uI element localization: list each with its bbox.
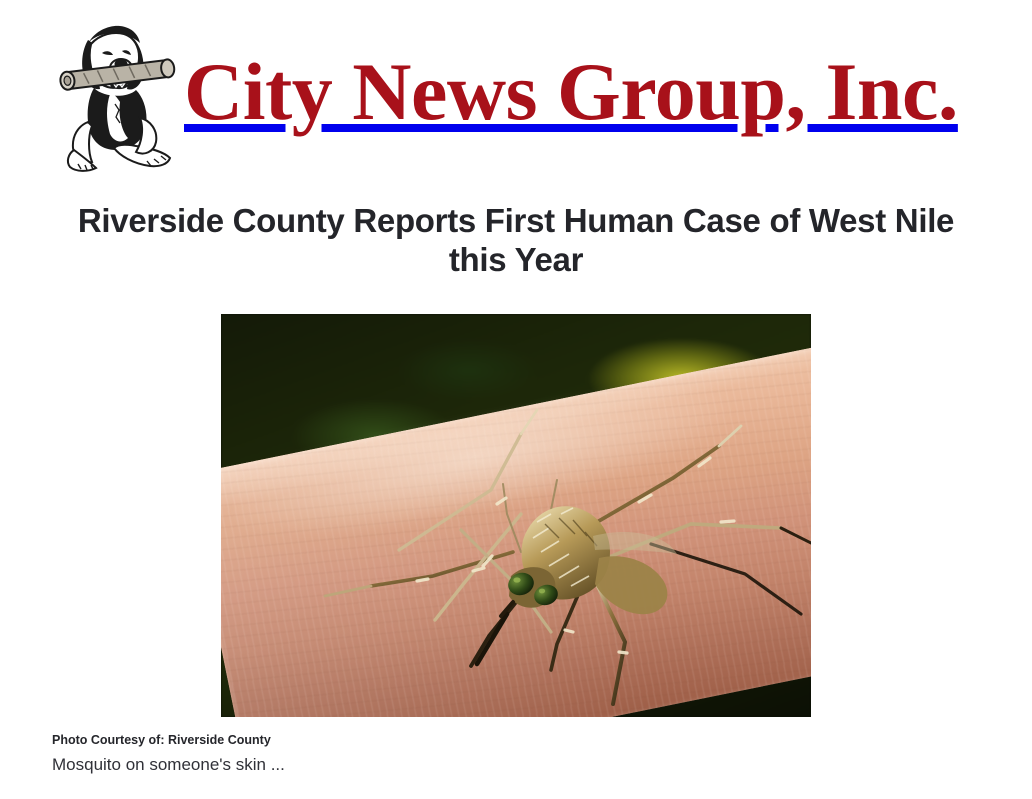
article-photo-figure [0, 314, 1032, 717]
mosquito-photo [221, 314, 811, 717]
photo-caption-block: Photo Courtesy of: Riverside County Mosq… [52, 733, 912, 778]
dog-with-newspaper-icon [58, 22, 180, 174]
photo-credit: Photo Courtesy of: Riverside County [52, 733, 912, 748]
site-logo-text: City News Group, Inc. [184, 51, 958, 133]
site-masthead: City News Group, Inc. [0, 0, 1032, 186]
photo-caption-text: Mosquito on someone's skin ... [52, 753, 912, 778]
photo-mosquito-subject [221, 314, 811, 717]
site-logo-link[interactable]: City News Group, Inc. [58, 18, 958, 178]
article-headline: Riverside County Reports First Human Cas… [76, 202, 956, 279]
